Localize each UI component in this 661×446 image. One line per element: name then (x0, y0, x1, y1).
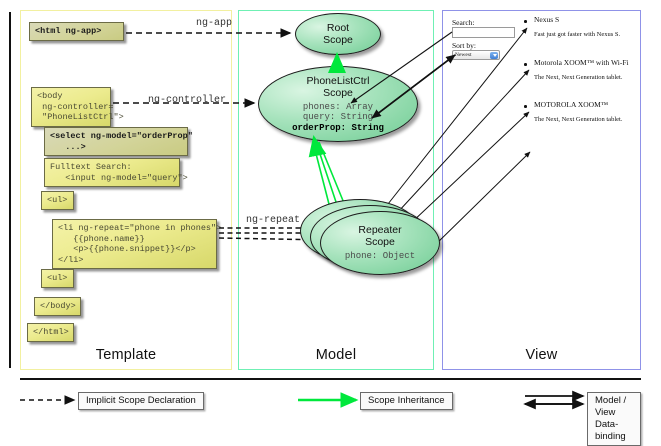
legend-label-model-view-data-binding: Model / View Data-binding (587, 392, 641, 446)
edge-scope-inheritance-repeater (319, 142, 346, 208)
edge-databinding-phone-name-4 (432, 152, 530, 248)
diagram-canvas: Template Model View <html ng-app> <body … (0, 0, 661, 425)
edge-databinding-phone-name-1 (388, 28, 527, 204)
edge-databinding-phone-name-2 (398, 70, 529, 212)
legend-label-implicit-scope-declaration: Implicit Scope Declaration (78, 392, 204, 410)
edge-scope-inheritance-repeater-head (314, 138, 316, 148)
edge-databinding-orderprop-back (372, 55, 455, 118)
edge-label-ng-repeat: ng-repeat (246, 215, 300, 226)
edge-databinding-phone-name-3 (410, 112, 529, 224)
edge-label-ng-app: ng-app (196, 18, 232, 29)
scope-repeater: Repeater Scope phone: Object (320, 211, 440, 275)
legend: Implicit Scope Declaration Scope Inherit… (20, 388, 641, 418)
scope-repeater-title-2: Scope (365, 236, 395, 248)
edge-databinding-query (351, 32, 452, 103)
edge-label-ng-controller: ng-controller (148, 95, 226, 106)
scope-repeater-props: phone: Object (345, 251, 415, 262)
scope-repeater-title-1: Repeater (358, 224, 401, 236)
legend-label-scope-inheritance: Scope Inheritance (360, 392, 453, 410)
